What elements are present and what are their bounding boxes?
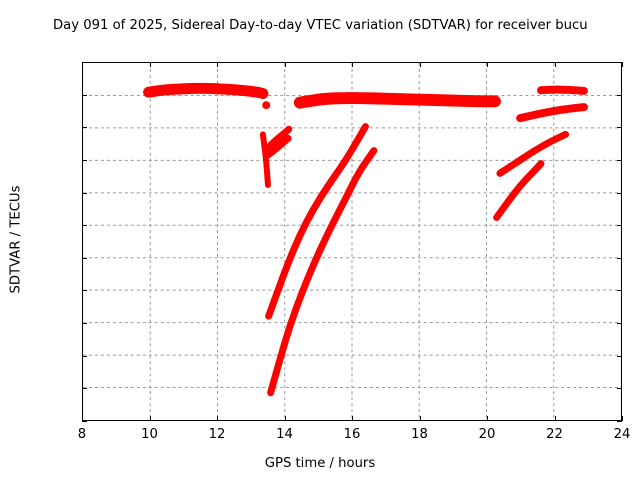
y-tick-mark: [82, 290, 87, 291]
data-series-layer: [83, 63, 621, 420]
y-tick-mark: [82, 323, 87, 324]
plot-area: [82, 62, 622, 421]
page-title: Day 091 of 2025, Sidereal Day-to-day VTE…: [53, 17, 640, 35]
plot-canvas: Day 091 of 2025, Sidereal Day-to-day VTE…: [0, 0, 640, 480]
y-tick-mark: [82, 225, 87, 226]
x-tick-mark: [622, 416, 623, 421]
y-tick-mark-right: [617, 421, 622, 422]
y-tick-mark: [82, 356, 87, 357]
y-tick-mark: [82, 62, 87, 63]
x-tick-mark-top: [420, 62, 421, 67]
y-tick-mark-right: [617, 193, 622, 194]
x-tick-mark: [420, 416, 421, 421]
x-tick-label: 18: [395, 428, 445, 442]
x-tick-mark-top: [285, 62, 286, 67]
x-tick-mark: [487, 416, 488, 421]
y-tick-mark: [82, 95, 87, 96]
y-tick-mark-right: [617, 388, 622, 389]
y-tick-mark-right: [617, 62, 622, 63]
x-tick-mark-top: [217, 62, 218, 67]
y-tick-mark-right: [617, 258, 622, 259]
x-tick-label: 20: [462, 428, 512, 442]
y-tick-mark: [82, 421, 87, 422]
x-tick-mark: [555, 416, 556, 421]
y-tick-mark-right: [617, 323, 622, 324]
x-tick-mark: [217, 416, 218, 421]
y-tick-mark: [82, 193, 87, 194]
x-tick-mark-top: [352, 62, 353, 67]
x-tick-label: 16: [327, 428, 377, 442]
y-tick-mark-right: [617, 290, 622, 291]
y-tick-mark-right: [617, 225, 622, 226]
y-tick-mark: [82, 127, 87, 128]
y-tick-mark: [82, 160, 87, 161]
x-tick-label: 14: [260, 428, 310, 442]
y-tick-mark-right: [617, 356, 622, 357]
x-tick-label: 8: [57, 428, 107, 442]
x-tick-label: 10: [125, 428, 175, 442]
x-tick-mark: [285, 416, 286, 421]
x-tick-label: 12: [192, 428, 242, 442]
x-tick-mark-top: [487, 62, 488, 67]
y-tick-mark-right: [617, 160, 622, 161]
y-tick-mark: [82, 258, 87, 259]
y-tick-mark: [82, 388, 87, 389]
x-tick-mark: [150, 416, 151, 421]
y-axis-label: SDTVAR / TECUs: [9, 140, 24, 340]
x-axis-label: GPS time / hours: [0, 456, 640, 471]
x-tick-mark-top: [555, 62, 556, 67]
x-tick-mark-top: [150, 62, 151, 67]
x-tick-mark-top: [622, 62, 623, 67]
x-tick-mark: [352, 416, 353, 421]
y-tick-mark-right: [617, 95, 622, 96]
x-tick-label: 24: [597, 428, 640, 442]
x-tick-label: 22: [530, 428, 580, 442]
y-tick-mark-right: [617, 127, 622, 128]
